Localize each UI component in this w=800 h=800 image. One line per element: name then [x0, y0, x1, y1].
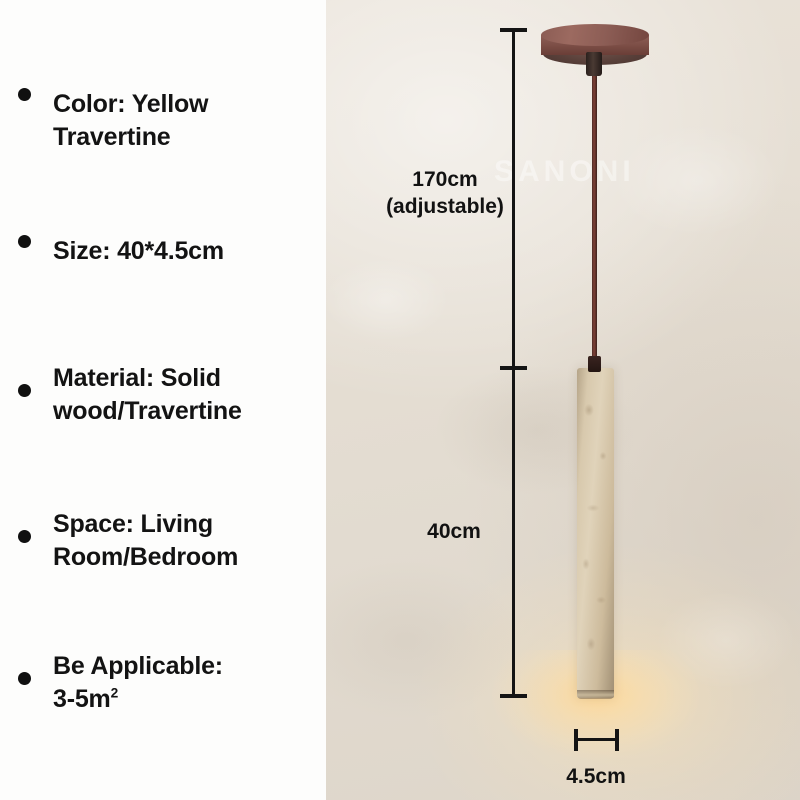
bullet-icon [18, 88, 31, 101]
spec-item-material: Material: Solid wood/Travertine [0, 362, 326, 427]
bullet-icon [18, 530, 31, 543]
bullet-icon [18, 672, 31, 685]
cord-end-cap [588, 356, 601, 372]
spec-item-color: Color: Yellow Travertine [0, 88, 326, 153]
product-spec-image: SANONI 170cm (adjustable) 40cm 4.5cm Col… [0, 0, 800, 800]
spec-applicable-superscript: 2 [111, 685, 118, 700]
wall-background: SANONI [326, 0, 800, 800]
spec-item-space: Space: Living Room/Bedroom [0, 508, 326, 573]
diameter-label: 4.5cm [546, 764, 646, 791]
suspension-cord [592, 72, 597, 372]
spec-label-size: Size: 40*4.5cm [53, 235, 224, 268]
bullet-icon [18, 235, 31, 248]
stone-dim-line [512, 370, 515, 698]
spec-label-color: Color: Yellow Travertine [53, 88, 208, 153]
bullet-icon [18, 384, 31, 397]
diameter-dim-right-tick [615, 729, 619, 751]
shade-bottom-rim [577, 690, 614, 699]
spec-label-material: Material: Solid wood/Travertine [53, 362, 242, 427]
stone-length-label: 40cm [418, 519, 490, 546]
spec-label-space: Space: Living Room/Bedroom [53, 508, 238, 573]
cord-dim-line [512, 28, 515, 370]
travertine-cylinder-shade [577, 368, 614, 698]
canopy-top [541, 24, 649, 46]
canopy-cord-grip [586, 52, 602, 76]
cord-length-label: 170cm (adjustable) [384, 167, 506, 221]
spec-panel: Color: Yellow Travertine Size: 40*4.5cm … [0, 0, 326, 800]
spec-item-applicable: Be Applicable: 3-5m2 [0, 650, 326, 715]
diameter-dim-line [574, 738, 619, 741]
spec-applicable-main: Be Applicable: 3-5m [53, 652, 223, 713]
watermark-text: SANONI [494, 155, 635, 189]
spec-label-applicable: Be Applicable: 3-5m2 [53, 650, 223, 715]
spec-item-size: Size: 40*4.5cm [0, 235, 326, 268]
stone-dim-bottom-tick [500, 694, 527, 698]
